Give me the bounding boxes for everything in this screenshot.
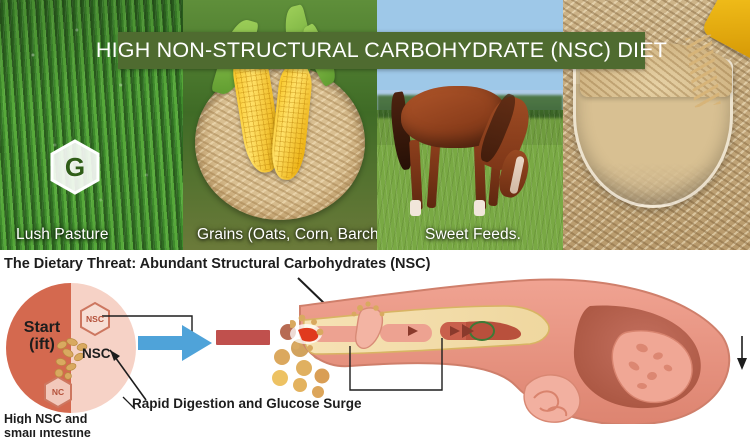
horse-hoof (474, 200, 485, 216)
hoof-cross-section-illustration (290, 262, 750, 430)
side-indicator-arrow (737, 358, 747, 370)
panel-caption-grains: Grains (Oats, Corn, Barchoi) (197, 226, 377, 244)
badge-g-label: G (65, 152, 85, 183)
panel-caption-lush-pasture: Lush Pasture (16, 226, 109, 244)
hexagon-nc-label: NC (52, 387, 64, 397)
badge-g-icon: G (48, 138, 102, 196)
intestine-coil (524, 375, 580, 422)
infographic-page: G Lush Pasture Grains (Oats, Corn, Barch… (0, 0, 750, 430)
panel-caption-sweet-feeds: Sweet Feeds. (425, 226, 521, 244)
horse-hoof (410, 200, 421, 216)
circle-start-line1: Start (13, 319, 71, 336)
blue-right-arrow-icon (138, 325, 212, 361)
bottom-margin (0, 424, 750, 430)
title-banner-text: HIGH NON-STRUCTURAL CARBOHYDRATE (NSC) D… (96, 38, 667, 63)
vessel-segment (380, 324, 432, 342)
hexagon-nsc-label: NSC (86, 314, 104, 324)
title-banner: HIGH NON-STRUCTURAL CARBOHYDRATE (NSC) D… (118, 32, 645, 69)
red-bar (216, 330, 270, 345)
